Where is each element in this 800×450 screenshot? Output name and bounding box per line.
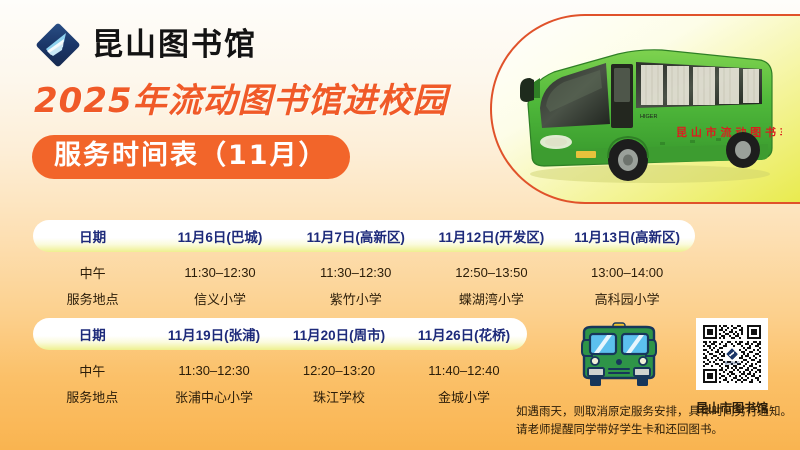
bus-photo-panel: HIGER 昆 山 市 流 动 图 书 车 [490, 14, 800, 204]
table-cell: 12:20–13:20 [277, 363, 402, 378]
schedule-table-1: 日期 11月6日(巴城) 11月7日(高新区) 11月12日(开发区) 11月1… [33, 220, 695, 311]
table-header-cell: 11月6日(巴城) [152, 226, 288, 246]
qr-code-icon[interactable]: 昆山图书馆 [696, 318, 768, 390]
table-row: 中午 11:30–12:30 11:30–12:30 12:50–13:50 1… [33, 259, 695, 285]
footnote: 如遇雨天，则取消原定服务安排，具体时间另行通知。 请老师提醒同学带好学生卡和还回… [516, 404, 796, 440]
table-cell: 11:30–12:30 [288, 265, 424, 280]
table-cell: 信义小学 [152, 289, 288, 308]
footnote-line-2: 请老师提醒同学带好学生卡和还回图书。 [516, 422, 796, 440]
library-logo: 昆山图书馆 [33, 20, 257, 70]
footnote-line-1: 如遇雨天，则取消原定服务安排，具体时间另行通知。 [516, 404, 796, 422]
table-cell: 服务地点 [33, 289, 152, 308]
table-cell: 金城小学 [401, 387, 526, 406]
table-cell: 11:30–12:30 [152, 363, 277, 378]
table-header-cell: 11月26日(花桥) [401, 324, 526, 344]
table-header-cell: 11月20日(周市) [277, 324, 402, 344]
table-cell: 中午 [33, 361, 152, 380]
page-subtitle: 服务时间表（11月） [54, 141, 328, 171]
table-row: 服务地点 张浦中心小学 珠江学校 金城小学 [33, 383, 527, 409]
table-row: 服务地点 信义小学 紫竹小学 蝶湖湾小学 高科园小学 [33, 285, 695, 311]
table-row: 中午 11:30–12:30 12:20–13:20 11:40–12:40 [33, 357, 527, 383]
table-cell: 珠江学校 [277, 387, 402, 406]
svg-text:HIGER: HIGER [640, 114, 657, 120]
table-cell: 张浦中心小学 [152, 387, 277, 406]
schedule-table-2: 日期 11月19日(张浦) 11月20日(周市) 11月26日(花桥) 中午 1… [33, 318, 527, 409]
table-cell: 高科园小学 [559, 289, 695, 308]
table-header-cell: 11月12日(开发区) [424, 226, 560, 246]
table-cell: 11:30–12:30 [152, 265, 288, 280]
table-header-cell: 日期 [33, 226, 152, 246]
svg-text:昆 山 市 流 动 图 书 车: 昆 山 市 流 动 图 书 车 [676, 125, 782, 139]
green-bus-front-icon [580, 322, 658, 388]
table-cell: 紫竹小学 [288, 289, 424, 308]
table-header-cell: 11月7日(高新区) [288, 226, 424, 246]
table-header-cell: 11月13日(高新区) [559, 226, 695, 246]
mobile-library-bus-photo-icon: HIGER 昆 山 市 流 动 图 书 车 [510, 38, 782, 188]
table-header-cell: 11月19日(张浦) [152, 324, 277, 344]
table-cell: 12:50–13:50 [424, 265, 560, 280]
subtitle-badge: 服务时间表（11月） [32, 135, 350, 179]
page-title: 2025年流动图书馆进校园 [34, 84, 448, 118]
table-cell: 11:40–12:40 [401, 363, 526, 378]
table-header-pill: 日期 11月6日(巴城) 11月7日(高新区) 11月12日(开发区) 11月1… [33, 220, 695, 252]
table-cell: 中午 [33, 263, 152, 282]
library-diamond-logo-icon [33, 20, 83, 70]
table-header-cell: 日期 [33, 324, 152, 344]
svg-text:昆山图书馆: 昆山图书馆 [724, 360, 739, 365]
table-cell: 服务地点 [33, 387, 152, 406]
poster-root: HIGER 昆 山 市 流 动 图 书 车 [0, 0, 800, 450]
table-header-pill: 日期 11月19日(张浦) 11月20日(周市) 11月26日(花桥) [33, 318, 527, 350]
table-cell: 13:00–14:00 [559, 265, 695, 280]
table-cell: 蝶湖湾小学 [424, 289, 560, 308]
library-logo-text: 昆山图书馆 [92, 30, 257, 61]
qr-block: 昆山图书馆 昆山市图书馆 [691, 318, 773, 416]
